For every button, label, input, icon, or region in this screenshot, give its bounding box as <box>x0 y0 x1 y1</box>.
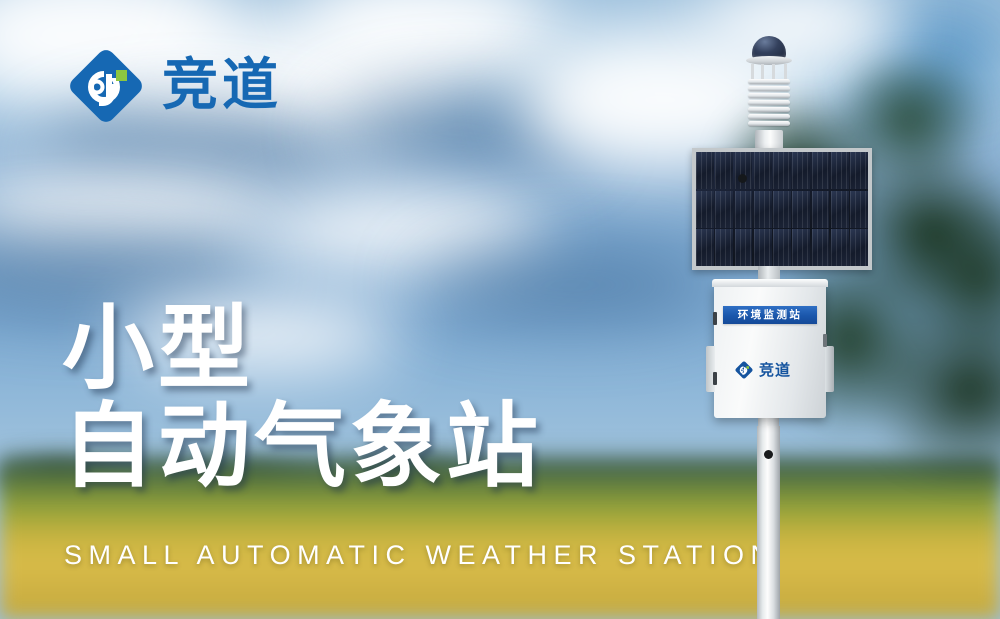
solar-cell <box>715 229 733 266</box>
solar-cell <box>754 152 772 189</box>
solar-cell <box>754 191 772 228</box>
brand-name: 竞道 <box>162 58 282 114</box>
product-banner: 竞道 小型 自动气象站 SMALL AUTOMATIC WEATHER STAT… <box>0 0 1000 619</box>
weather-station-product: 环境监测站 竞道 <box>686 36 876 619</box>
solar-panel <box>692 148 872 270</box>
solar-cell <box>735 229 753 266</box>
jingdao-diamond-logo-icon <box>64 44 148 128</box>
solar-cell <box>792 152 810 189</box>
enclosure-box: 环境监测站 竞道 <box>714 284 826 418</box>
enclosure-brand-logo: 竞道 <box>734 360 791 380</box>
solar-cell <box>715 152 733 189</box>
subtitle-english: SMALL AUTOMATIC WEATHER STATION <box>64 540 777 571</box>
enclosure-banner-label: 环境监测站 <box>738 310 803 321</box>
headline-line-2: 自动气象站 <box>62 398 542 496</box>
solar-cell <box>792 191 810 228</box>
solar-cell <box>812 152 830 189</box>
solar-cell <box>735 152 753 189</box>
solar-cell <box>831 229 849 266</box>
brand-logo[interactable]: 竞道 <box>64 44 282 128</box>
solar-cell <box>831 152 849 189</box>
enclosure-top-cap <box>712 279 828 287</box>
solar-cell <box>715 191 733 228</box>
pole-bolt <box>738 174 747 183</box>
enclosure-bracket-left <box>706 346 715 392</box>
solar-cell <box>735 191 753 228</box>
enclosure-vent <box>713 372 717 385</box>
solar-cell <box>696 191 714 228</box>
solar-cell <box>812 191 830 228</box>
jingdao-diamond-logo-icon <box>734 360 754 380</box>
solar-cell-grid <box>696 152 868 266</box>
radiation-shield <box>748 79 790 131</box>
solar-cell <box>696 229 714 266</box>
solar-cell <box>773 229 791 266</box>
solar-cell <box>773 152 791 189</box>
enclosure-bracket-right <box>825 346 834 392</box>
headline: 小型 自动气象站 <box>62 300 542 495</box>
solar-cell <box>850 229 868 266</box>
solar-cell <box>696 152 714 189</box>
enclosure-vent <box>823 334 827 347</box>
solar-cell <box>850 191 868 228</box>
solar-cell <box>754 229 772 266</box>
solar-cell <box>850 152 868 189</box>
enclosure-brand-name: 竞道 <box>759 363 791 378</box>
solar-cell <box>773 191 791 228</box>
headline-line-1: 小型 <box>62 300 542 398</box>
pole-bolt-lower <box>764 450 773 459</box>
ultrasonic-weather-sensor-icon <box>740 36 798 166</box>
enclosure-banner: 环境监测站 <box>723 306 817 324</box>
solar-cell <box>792 229 810 266</box>
solar-cell <box>831 191 849 228</box>
enclosure-vent <box>713 312 717 325</box>
solar-cell <box>812 229 830 266</box>
